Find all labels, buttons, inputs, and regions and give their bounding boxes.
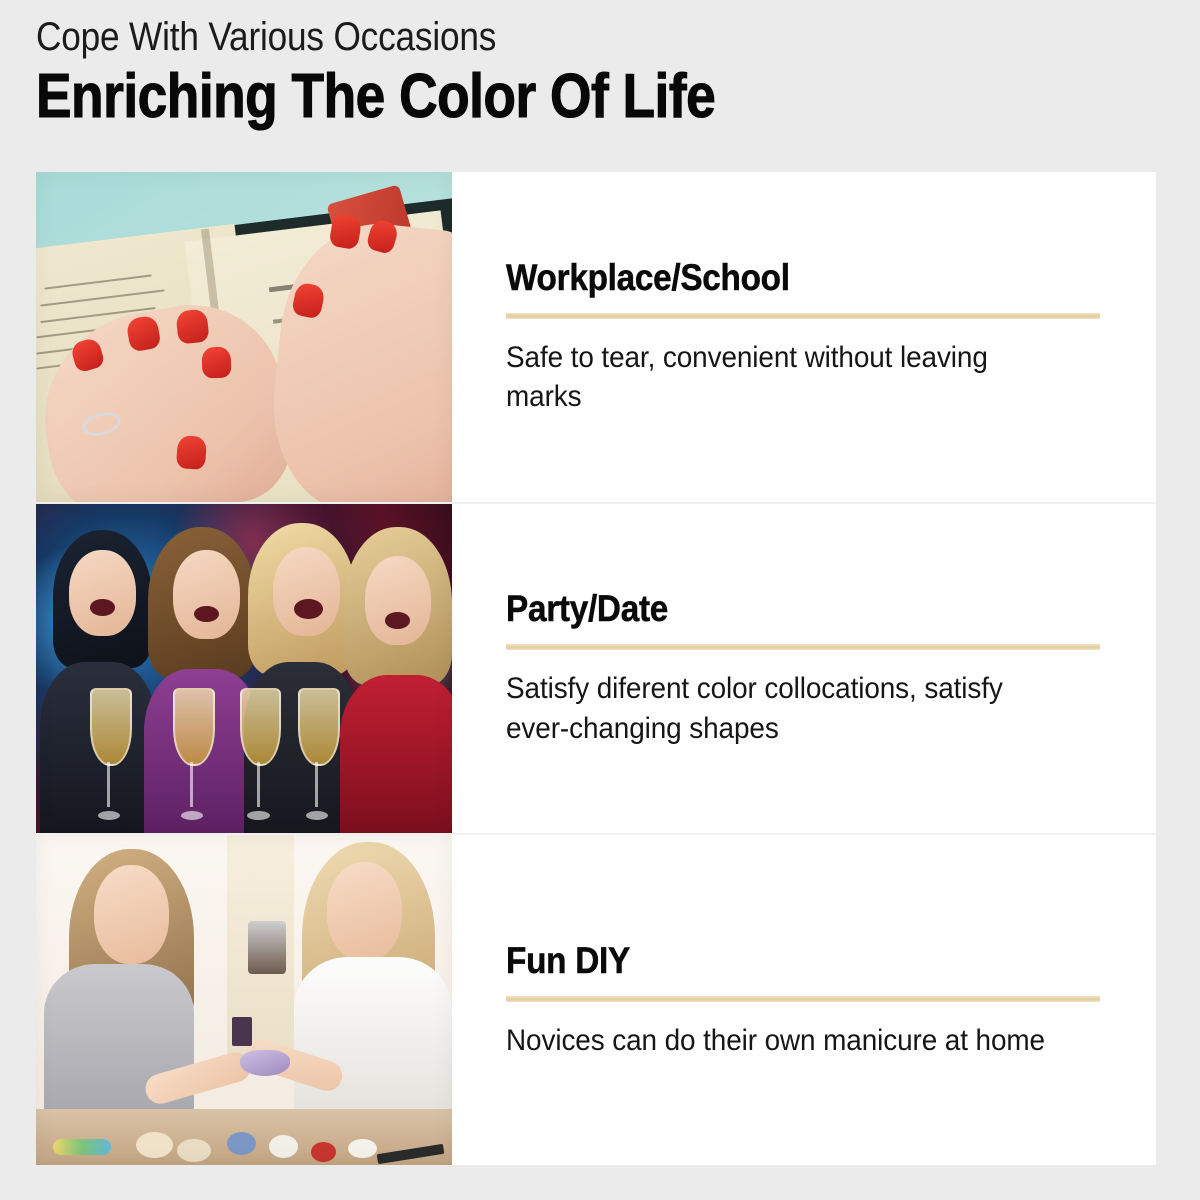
page-title: Enriching The Color Of Life [36,64,999,130]
feature-title: Party/Date [506,588,1041,630]
feature-divider-rule [506,644,1100,650]
feature-image-fun-diy [36,835,452,1165]
feature-description: Satisfy diferent color collocations, sat… [506,669,1058,748]
feature-row: Party/Date Satisfy diferent color colloc… [36,504,1156,836]
feature-body: Workplace/School Safe to tear, convenien… [452,172,1156,502]
feature-body: Fun DIY Novices can do their own manicur… [452,835,1156,1165]
feature-title: Workplace/School [506,257,1041,299]
feature-image-party-date [36,504,452,834]
feature-row: Fun DIY Novices can do their own manicur… [36,835,1156,1165]
eyebrow-text: Cope With Various Occasions [36,16,1022,58]
feature-row: Workplace/School Safe to tear, convenien… [36,172,1156,504]
feature-title: Fun DIY [506,940,1041,982]
product-feature-page: Cope With Various Occasions Enriching Th… [0,0,1200,1200]
feature-description: Safe to tear, convenient without leaving… [506,338,1058,417]
feature-divider-rule [506,313,1100,319]
feature-body: Party/Date Satisfy diferent color colloc… [452,504,1156,834]
feature-image-workplace-school [36,172,452,502]
feature-description: Novices can do their own manicure at hom… [506,1021,1058,1061]
women-toasting-champagne-at-party-illustration [36,504,452,834]
hands-with-red-nails-on-open-book-illustration [36,172,452,502]
feature-card: Workplace/School Safe to tear, convenien… [36,172,1156,1165]
two-women-doing-manicure-at-home-illustration [36,835,452,1165]
header: Cope With Various Occasions Enriching Th… [36,16,1156,130]
feature-divider-rule [506,996,1100,1002]
